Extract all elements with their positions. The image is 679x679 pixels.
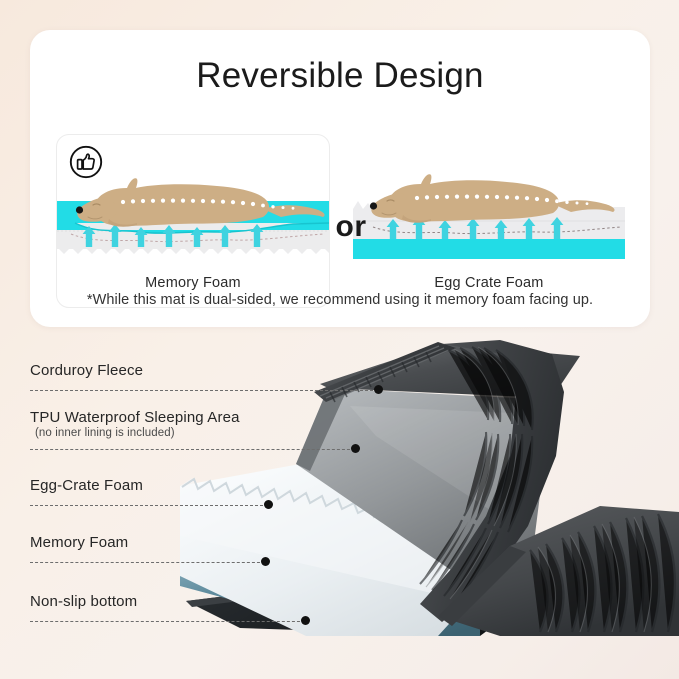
callout-title: Memory Foam (30, 534, 128, 551)
leader-dot-memory-foam (261, 557, 270, 566)
panel-egg-crate-foam-label: Egg Crate Foam (353, 275, 625, 291)
callout-title: Non-slip bottom (30, 593, 137, 610)
leader-dot-non-slip-bottom (301, 616, 310, 625)
callout-tpu-waterproof-sleeping-area: TPU Waterproof Sleeping Area (no inner l… (30, 409, 240, 439)
leader-line-egg-crate-foam (30, 505, 268, 507)
callout-title: Corduroy Fleece (30, 362, 143, 379)
callout-memory-foam: Memory Foam (30, 534, 128, 551)
callout-non-slip-bottom: Non-slip bottom (30, 593, 137, 610)
callout-title: Egg-Crate Foam (30, 477, 143, 494)
panel-memory-foam-label: Memory Foam (57, 275, 329, 291)
leader-dot-corduroy-fleece (374, 385, 383, 394)
leader-dot-tpu-waterproof-sleeping-area (351, 444, 360, 453)
leader-line-memory-foam (30, 562, 265, 564)
thumbs-up-icon (69, 145, 103, 179)
callout-egg-crate-foam: Egg-Crate Foam (30, 477, 143, 494)
leader-line-corduroy-fleece (30, 390, 378, 392)
leader-line-tpu-waterproof-sleeping-area (30, 449, 355, 451)
callout-title: TPU Waterproof Sleeping Area (30, 409, 240, 426)
or-divider-label: or (328, 210, 374, 244)
callout-corduroy-fleece: Corduroy Fleece (30, 362, 143, 379)
leader-dot-egg-crate-foam (264, 500, 273, 509)
callout-subtitle: (no inner lining is included) (35, 427, 240, 439)
panel-egg-crate-foam: Egg Crate Foam (352, 134, 626, 308)
leader-line-non-slip-bottom (30, 621, 305, 623)
panel-memory-foam: Memory Foam (56, 134, 330, 308)
card-footnote: *While this mat is dual-sided, we recomm… (30, 292, 650, 308)
reversible-design-card: Reversible Design (30, 30, 650, 327)
layer-callouts: Corduroy Fleece TPU Waterproof Sleeping … (0, 352, 679, 652)
page-title: Reversible Design (30, 56, 650, 96)
egg-crate-foam-illustration (353, 135, 625, 269)
